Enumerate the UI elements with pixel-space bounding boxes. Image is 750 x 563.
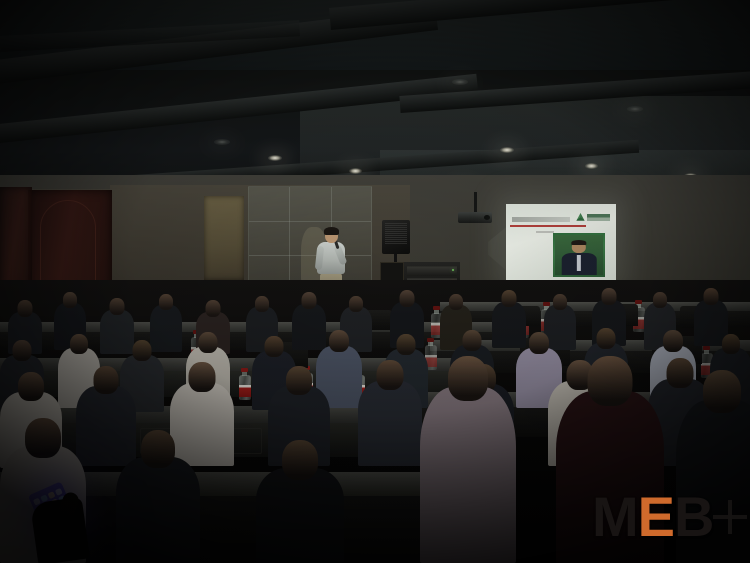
person-head	[597, 328, 616, 349]
downlight-icon	[349, 168, 362, 174]
person-torso	[358, 381, 422, 466]
watermark: MEB	[592, 489, 713, 545]
person-head	[448, 356, 488, 401]
person-head	[449, 294, 463, 310]
downlight-icon	[500, 147, 514, 153]
speaker-grille	[385, 223, 407, 245]
phone-app-icon[interactable]	[48, 491, 56, 499]
person-head	[703, 370, 741, 413]
phone-app-icon[interactable]	[55, 488, 63, 496]
downlight-icon	[585, 163, 598, 169]
person-head	[722, 334, 740, 354]
watermark-b: B	[674, 485, 713, 548]
bottle-label	[239, 385, 251, 397]
projector-lens-icon	[484, 215, 490, 220]
person-head	[704, 288, 719, 305]
person-head	[63, 292, 77, 308]
person-head	[18, 300, 33, 317]
person-head	[159, 294, 173, 310]
person-head	[206, 300, 221, 317]
person-head	[602, 288, 617, 305]
audience-person	[420, 356, 516, 563]
slide-subtitle	[536, 231, 554, 233]
slide-logo	[576, 212, 610, 222]
slide-portrait-photo	[553, 233, 605, 277]
audience-person	[256, 440, 344, 563]
person-head	[133, 340, 152, 361]
person-head	[110, 298, 125, 315]
watermark-e: E	[638, 485, 674, 548]
person-head	[265, 336, 284, 357]
person-head	[302, 292, 317, 309]
audience-person	[358, 360, 422, 466]
downlight-icon	[627, 106, 643, 112]
audience-person	[116, 430, 200, 563]
watermark-m: M	[592, 485, 638, 548]
person-head	[553, 294, 567, 310]
person-head	[529, 332, 549, 354]
person-torso	[420, 387, 516, 563]
person-head	[18, 372, 44, 401]
person-head	[588, 356, 633, 406]
water-bottle	[238, 368, 251, 400]
person-torso	[116, 457, 200, 563]
person-head	[282, 440, 318, 480]
person-head	[255, 296, 269, 312]
triangle-logo-icon	[576, 213, 585, 222]
person-head	[377, 360, 404, 390]
person-head	[463, 330, 482, 351]
person-head	[199, 332, 218, 353]
slide-logo-wordmark	[587, 214, 610, 221]
person-head	[329, 330, 349, 352]
person-head	[25, 418, 61, 458]
person-head	[653, 292, 667, 308]
person-head	[663, 330, 683, 352]
person-head	[400, 290, 415, 307]
person-torso	[256, 468, 344, 563]
projection-screen	[506, 204, 616, 282]
glass-partition	[248, 186, 372, 288]
person-head	[189, 362, 216, 392]
person-head	[70, 334, 88, 354]
projector-mount	[474, 192, 477, 214]
slide-title	[512, 217, 570, 222]
downlight-icon	[214, 139, 230, 145]
photo-scene: MEB	[0, 0, 750, 563]
person-head	[397, 334, 416, 355]
person-head	[13, 340, 32, 361]
person-head	[286, 366, 312, 395]
downlight-icon	[268, 155, 282, 161]
person-head	[502, 290, 517, 307]
person-head	[141, 430, 175, 468]
wall-stone-panel	[204, 196, 244, 280]
person-head	[94, 366, 119, 394]
downlight-icon	[452, 79, 468, 85]
person-head	[349, 296, 363, 312]
slide-accent-rule	[510, 225, 586, 227]
